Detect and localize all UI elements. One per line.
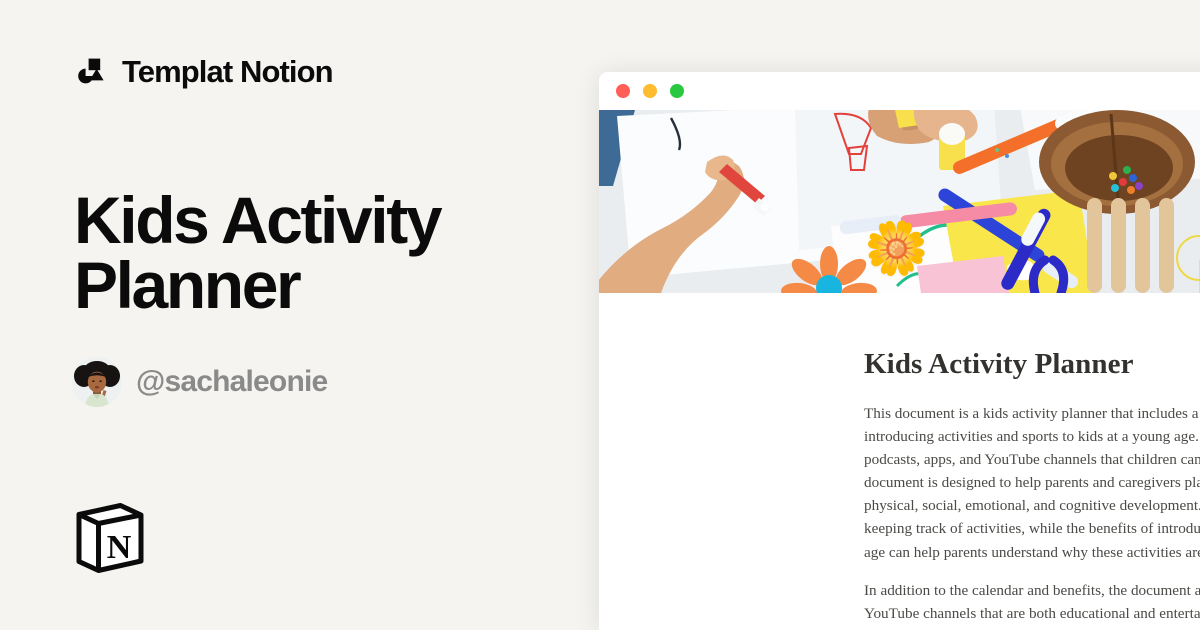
notion-cube-logo-icon: N (74, 500, 146, 574)
browser-window: 🌼 Kids Activity Planner This document is… (599, 72, 1200, 630)
window-maximize-button[interactable] (670, 84, 684, 98)
author[interactable]: @sachaleonie (72, 357, 327, 407)
brand-name: Templat Notion (122, 56, 333, 87)
avatar (72, 357, 122, 407)
svg-text:N: N (107, 529, 132, 566)
document-paragraph: In addition to the calendar and benefits… (864, 579, 1200, 630)
page-emoji-icon: 🌼 (864, 223, 929, 275)
browser-titlebar (599, 72, 1200, 110)
document-paragraph: This document is a kids activity planner… (864, 402, 1200, 564)
document-title: Kids Activity Planner (864, 348, 1200, 381)
window-close-button[interactable] (616, 84, 630, 98)
window-minimize-button[interactable] (643, 84, 657, 98)
page-title: Kids Activity Planner (74, 188, 544, 317)
author-handle: @sachaleonie (136, 365, 327, 399)
brand: Templat Notion (74, 54, 333, 88)
document-body: Kids Activity Planner This document is a… (599, 293, 1200, 630)
left-panel: Templat Notion Kids Activity Planner (0, 0, 600, 630)
templat-notion-logo-icon (74, 54, 108, 88)
